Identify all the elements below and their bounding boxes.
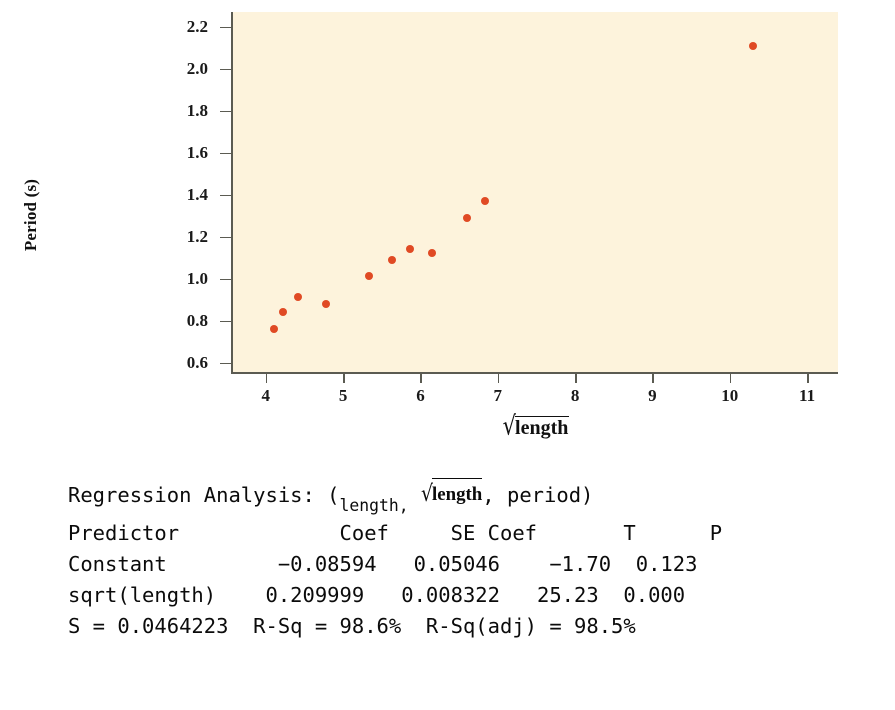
x-tick-label: 7 xyxy=(478,386,518,406)
x-tick-mark xyxy=(807,373,809,383)
sqrt-symbol-xaxis: √length xyxy=(501,415,570,440)
regression-title-line: Regression Analysis: (length, √length, p… xyxy=(68,480,593,512)
y-tick-mark xyxy=(220,153,231,155)
regression-table-header: Predictor Coef SE Coef T P xyxy=(68,518,722,549)
y-tick-mark xyxy=(220,237,231,239)
regression-title-var1: length, xyxy=(340,490,409,521)
scatterplot-figure: Period (s) √length 0.60.81.01.21.41.61.8… xyxy=(0,0,895,460)
x-tick-label: 5 xyxy=(323,386,363,406)
x-tick-mark xyxy=(730,373,732,383)
y-tick-label: 2.2 xyxy=(166,18,208,35)
y-tick-label: 1.0 xyxy=(166,270,208,287)
y-tick-mark xyxy=(220,279,231,281)
sqrt-symbol-title: √length xyxy=(421,484,482,505)
plot-area-background xyxy=(231,12,838,373)
regression-row-sqrt-length: sqrt(length) 0.209999 0.008322 25.23 0.0… xyxy=(68,580,685,611)
y-axis-title: Period (s) xyxy=(21,150,41,280)
y-tick-label: 2.0 xyxy=(166,60,208,77)
radical-sign-icon: √ xyxy=(421,476,433,513)
y-tick-mark xyxy=(220,363,231,365)
x-tick-label: 6 xyxy=(400,386,440,406)
y-tick-label: 1.2 xyxy=(166,228,208,245)
data-point xyxy=(322,300,330,308)
y-tick-mark xyxy=(220,111,231,113)
data-point xyxy=(749,42,757,50)
y-tick-mark xyxy=(220,195,231,197)
regression-output-panel: Regression Analysis: (length, √length, p… xyxy=(0,462,895,678)
data-point xyxy=(279,308,287,316)
regression-summary-line: S = 0.0464223 R-Sq = 98.6% R-Sq(adj) = 9… xyxy=(68,611,636,642)
x-axis-title: √length xyxy=(400,415,670,440)
data-point xyxy=(463,214,471,222)
x-tick-label: 10 xyxy=(710,386,750,406)
y-tick-label: 0.8 xyxy=(166,312,208,329)
data-point xyxy=(270,325,278,333)
y-tick-label: 0.6 xyxy=(166,354,208,371)
regression-title-var3: period) xyxy=(495,483,594,507)
x-tick-mark xyxy=(575,373,577,383)
y-tick-mark xyxy=(220,321,231,323)
y-tick-mark xyxy=(220,27,231,29)
regression-row-constant: Constant −0.08594 0.05046 −1.70 0.123 xyxy=(68,549,697,580)
regression-title-prefix: Regression Analysis: ( xyxy=(68,483,340,507)
x-axis-radicand: length xyxy=(515,416,569,440)
x-tick-mark xyxy=(343,373,345,383)
x-tick-mark xyxy=(652,373,654,383)
x-tick-mark xyxy=(420,373,422,383)
x-tick-label: 11 xyxy=(787,386,827,406)
regression-title-radicand: length xyxy=(432,478,482,510)
data-point xyxy=(388,256,396,264)
y-tick-label: 1.4 xyxy=(166,186,208,203)
x-axis-line xyxy=(231,372,838,374)
x-tick-label: 8 xyxy=(555,386,595,406)
regression-title-comma: , xyxy=(482,483,494,507)
x-tick-label: 4 xyxy=(246,386,286,406)
x-tick-mark xyxy=(498,373,500,383)
y-tick-label: 1.6 xyxy=(166,144,208,161)
x-tick-label: 9 xyxy=(632,386,672,406)
y-tick-mark xyxy=(220,69,231,71)
y-tick-label: 1.8 xyxy=(166,102,208,119)
x-tick-mark xyxy=(266,373,268,383)
radical-sign-icon: √ xyxy=(503,411,516,441)
y-axis-line xyxy=(231,12,233,373)
